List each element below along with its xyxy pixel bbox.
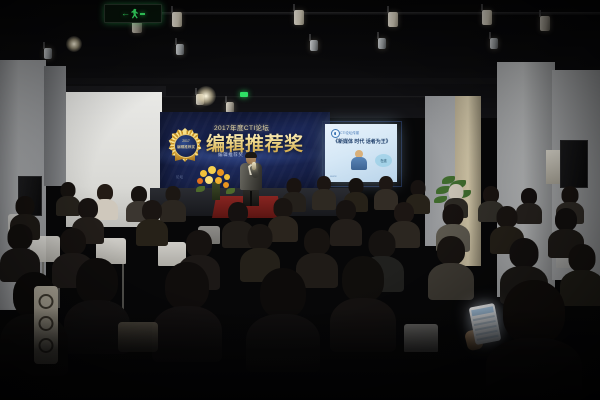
badge-core: 2017 编辑推荐奖 (174, 134, 198, 158)
flower (215, 177, 222, 184)
presentation-bubble-text: 在线 (375, 158, 392, 163)
flower (208, 166, 216, 174)
foreground-shadow (0, 308, 600, 400)
lamp-glow (196, 86, 216, 106)
light-track-rail-upper (120, 12, 600, 15)
projection-screen: CTI论坛传媒 《新媒体 时代 话者为王》 在线 www (325, 124, 397, 182)
scarf-pattern-dot (39, 294, 54, 309)
presentation-avatar-icon (351, 150, 367, 170)
flower (217, 169, 224, 176)
exit-door-icon (140, 13, 145, 15)
audience-member (136, 200, 168, 246)
exit-sign-icon: ← (104, 4, 162, 23)
flower-leaf (226, 188, 235, 194)
pa-speaker-right (560, 140, 588, 188)
presentation-bubble: 在线 (375, 154, 392, 167)
presentation-brand: CTI论坛传媒 (340, 130, 359, 135)
presentation-headline: 《新媒体 时代 话者为王》 (333, 138, 393, 145)
award-badge-icon: 2017 编辑推荐奖 (168, 128, 202, 162)
conference-hall-photo: ← 2017 编辑推荐奖 2017年度CTI论坛 编辑推荐奖 编辑推荐奖 颁奖典… (0, 0, 600, 400)
presentation-logo-icon (331, 129, 340, 138)
flower (223, 182, 229, 188)
lamp-glow (66, 36, 82, 52)
floral-arrangement (196, 166, 236, 200)
badge-label: 编辑推荐奖 (175, 145, 197, 150)
audience-member (428, 236, 474, 300)
flower (205, 176, 213, 184)
flower (224, 174, 230, 180)
flower-stems (212, 182, 220, 200)
light-track-rail-lower (110, 96, 470, 98)
exit-arrow-icon: ← (121, 9, 130, 18)
presenter-hair (245, 152, 257, 158)
backdrop-footnote-left: 论坛 (176, 174, 183, 179)
flower-leaf (196, 186, 205, 192)
exit-sign-secondary-icon (240, 92, 248, 97)
wall-column-left-inner (44, 66, 66, 186)
pa-speaker-light (546, 150, 560, 184)
microphone-icon (252, 162, 256, 170)
badge-year: 2017 (175, 139, 197, 143)
running-man-icon (131, 9, 139, 19)
flower (197, 178, 203, 184)
presenter-on-stage (239, 153, 263, 205)
